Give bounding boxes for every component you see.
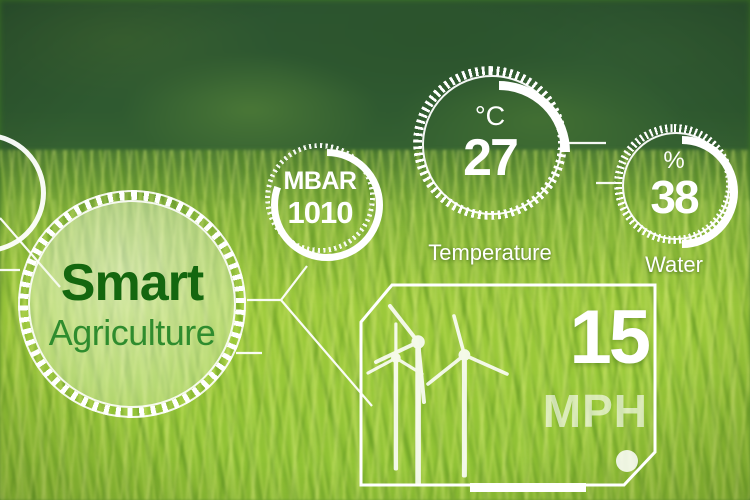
wind-speed-value: 15 — [569, 300, 648, 376]
brand-title: Smart — [61, 257, 203, 309]
water-caption: Water — [614, 252, 734, 278]
smart-agriculture-badge[interactable]: Smart Agriculture — [18, 190, 246, 418]
gauge-pressure[interactable]: MBAR 1010 — [265, 143, 375, 253]
gauge-temperature[interactable]: °C 27 — [413, 66, 567, 220]
panel-bottom-bar — [470, 483, 586, 492]
brand-subtitle: Agriculture — [49, 315, 216, 351]
water-unit: % — [663, 149, 684, 173]
temperature-value: 27 — [463, 132, 517, 184]
corner-dot-icon — [616, 450, 638, 472]
wind-speed-panel[interactable]: 15 MPH — [358, 282, 658, 488]
temperature-unit: °C — [475, 103, 505, 130]
temperature-caption: Temperature — [413, 240, 567, 266]
water-value: 38 — [650, 174, 697, 220]
pressure-value: 1010 — [288, 197, 353, 228]
wind-turbine-icon — [362, 300, 542, 485]
smart-agriculture-dashboard: Smart Agriculture MBAR 1010 °C 27 Temper… — [0, 0, 750, 500]
gauge-water[interactable]: % 38 — [614, 124, 734, 244]
wind-speed-unit: MPH — [543, 388, 648, 434]
pressure-unit: MBAR — [284, 169, 357, 194]
